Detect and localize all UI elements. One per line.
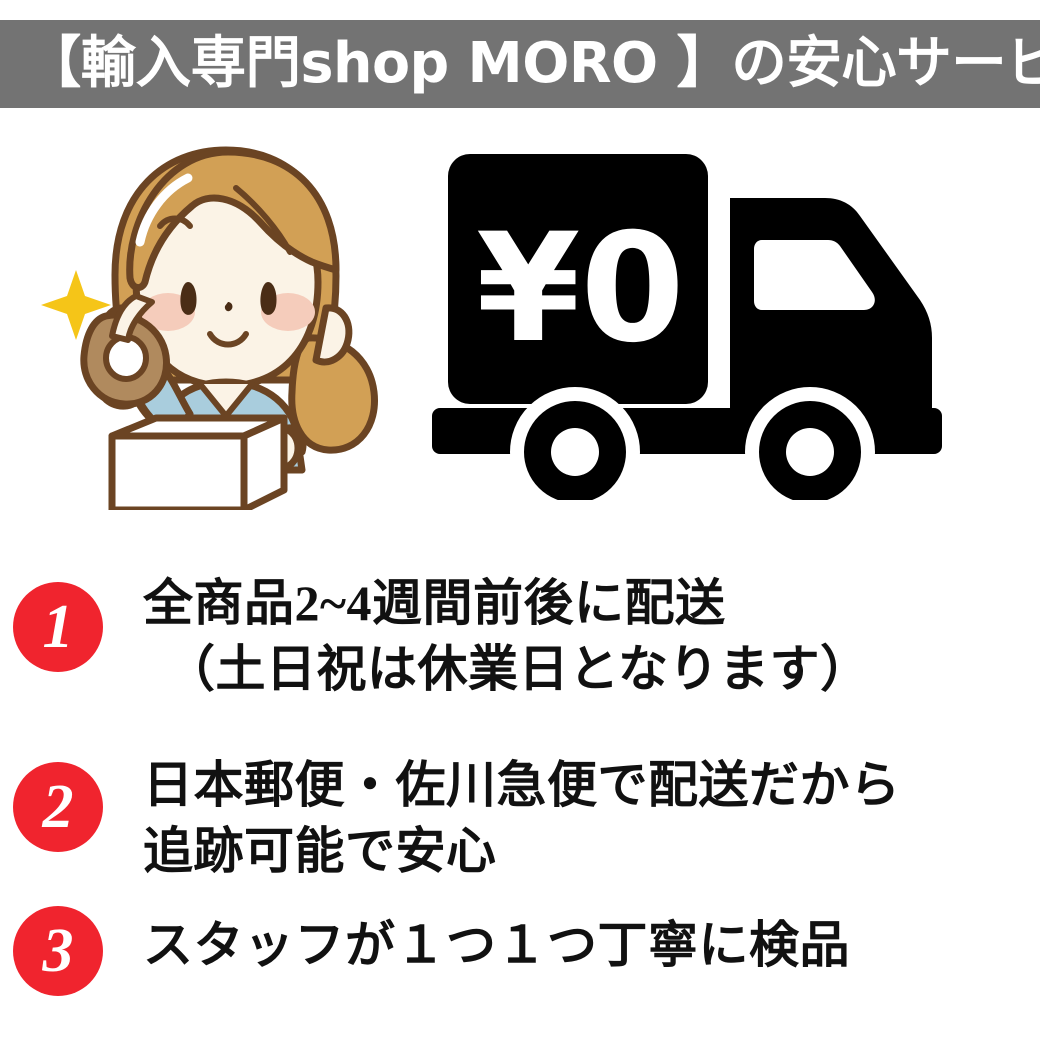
number-badge-3: 3	[13, 906, 103, 996]
service-item-1-text: 全商品2~4週間前後に配送 （土日祝は休業日となります）	[143, 570, 1033, 702]
truck-price-label: ¥0	[476, 202, 685, 376]
service-item-1-line1: 全商品2~4週間前後に配送	[143, 575, 726, 631]
service-item-3-line1: スタッフが１つ１つ丁寧に検品	[143, 917, 850, 973]
page-title: 【輸入専門shop MORO 】の安心サービス	[0, 20, 1040, 108]
staff-packing-illustration	[40, 130, 400, 510]
illustration-row: ¥0	[0, 120, 1040, 520]
number-badge-1: 1	[13, 582, 103, 672]
service-item-2-text: 日本郵便・佐川急便で配送だから 追跡可能で安心	[143, 752, 1033, 884]
service-item-2-line1: 日本郵便・佐川急便で配送だから	[143, 757, 901, 813]
free-shipping-truck-icon: ¥0	[420, 140, 1000, 500]
number-badge-2: 2	[13, 762, 103, 852]
service-list: 1 全商品2~4週間前後に配送 （土日祝は休業日となります） 2 日本郵便・佐川…	[0, 540, 1040, 1040]
header-banner: 【輸入専門shop MORO 】の安心サービス	[0, 20, 1040, 108]
service-item-1-line2: （土日祝は休業日となります）	[143, 636, 1033, 702]
service-item-3-text: スタッフが１つ１つ丁寧に検品	[143, 912, 1033, 978]
service-item-2-line2: 追跡可能で安心	[143, 818, 1033, 884]
